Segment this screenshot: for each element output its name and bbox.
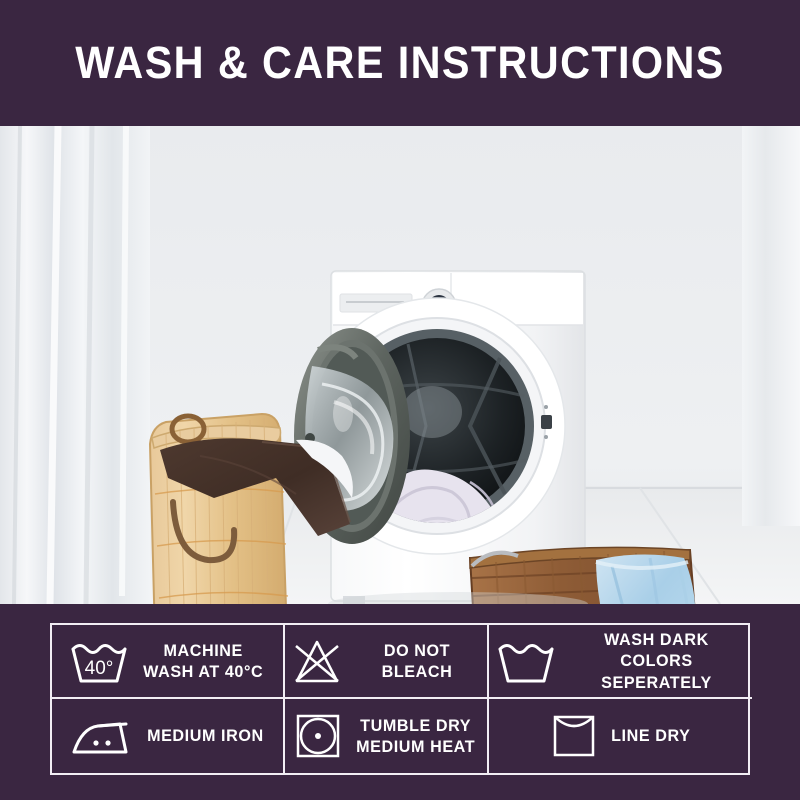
care-cell-tumble-dry: TUMBLE DRY MEDIUM HEAT (285, 699, 489, 773)
laundry-room-photo (0, 126, 800, 604)
care-cell-wash-dark-colors: WASH DARK COLORS SEPERATELY (489, 625, 752, 699)
iron-medium-icon (68, 712, 134, 760)
page-title: WASH & CARE INSTRUCTIONS (75, 37, 725, 89)
tumble-dry-icon (293, 711, 343, 761)
care-label-do-not-bleach: DO NOT BLEACH (356, 640, 478, 683)
wash-care-poster: WASH & CARE INSTRUCTIONS (0, 0, 800, 800)
curtain-left (0, 126, 150, 604)
laundry-room-illustration (0, 126, 800, 604)
care-label-machine-wash: MACHINE WASH AT 40°C (143, 640, 263, 683)
wash-temp-value: 40° (85, 658, 114, 679)
care-cell-machine-wash: 40° MACHINE WASH AT 40°C (52, 625, 285, 699)
care-symbols-panel: 40° MACHINE WASH AT 40°C DO NOT BLEACH (0, 604, 800, 800)
care-cell-line-dry: LINE DRY (489, 699, 752, 773)
care-symbols-grid: 40° MACHINE WASH AT 40°C DO NOT BLEACH (50, 623, 750, 775)
care-cell-do-not-bleach: DO NOT BLEACH (285, 625, 489, 699)
care-label-tumble-dry: TUMBLE DRY MEDIUM HEAT (356, 715, 475, 758)
header-bar: WASH & CARE INSTRUCTIONS (0, 0, 800, 126)
wash-tub-40-icon: 40° (68, 636, 130, 686)
care-label-wash-dark-colors: WASH DARK COLORS SEPERATELY (571, 629, 741, 693)
care-cell-medium-iron: MEDIUM IRON (52, 699, 285, 773)
do-not-bleach-icon (291, 636, 343, 686)
curtain-right (742, 126, 800, 526)
wash-tub-icon (495, 636, 557, 686)
line-dry-icon (549, 711, 599, 761)
care-label-line-dry: LINE DRY (611, 725, 690, 746)
care-label-medium-iron: MEDIUM IRON (147, 725, 264, 746)
